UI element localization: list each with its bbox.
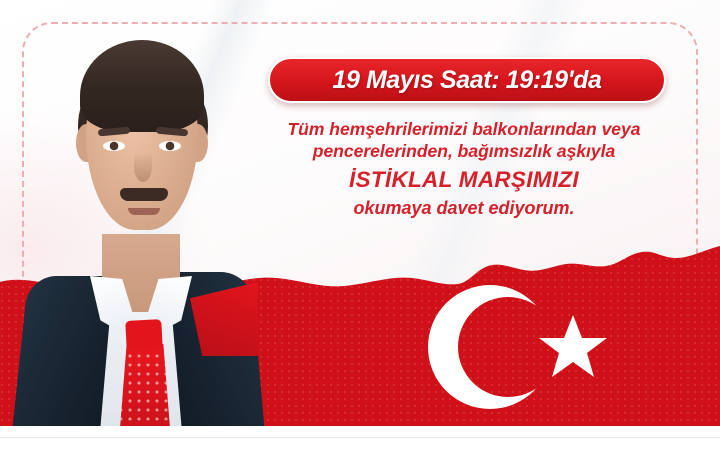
bottom-white-strip bbox=[0, 426, 720, 450]
mouth bbox=[128, 208, 160, 215]
necktie-knot bbox=[125, 319, 163, 351]
invitation-message: Tüm hemşehrilerimizi balkonlarından veya… bbox=[238, 118, 690, 220]
badge-label: 19 Mayıs Saat: 19:19'da bbox=[332, 66, 601, 95]
poster-image: 19 Mayıs Saat: 19:19'da Tüm hemşehrileri… bbox=[0, 0, 720, 426]
eye-left bbox=[103, 141, 125, 151]
necktie-body bbox=[118, 344, 172, 426]
screenshot-root: 19 Mayıs Saat: 19:19'da Tüm hemşehrileri… bbox=[0, 0, 720, 450]
date-time-badge: 19 Mayıs Saat: 19:19'da bbox=[268, 57, 666, 103]
message-line-1: Tüm hemşehrilerimizi balkonlarından veya bbox=[238, 118, 690, 140]
eye-right bbox=[159, 141, 181, 151]
portrait-photo bbox=[14, 26, 250, 426]
head bbox=[72, 40, 212, 248]
message-line-3-emphasis: İSTİKLAL MARŞIMIZI bbox=[238, 166, 690, 194]
hair bbox=[80, 40, 204, 132]
message-line-2: pencerelerinden, bağımsızlık aşkıyla bbox=[238, 140, 690, 162]
nose bbox=[134, 152, 152, 182]
mustache bbox=[120, 188, 168, 201]
message-line-4: okumaya davet ediyorum. bbox=[238, 197, 690, 220]
bottom-divider bbox=[0, 437, 720, 438]
